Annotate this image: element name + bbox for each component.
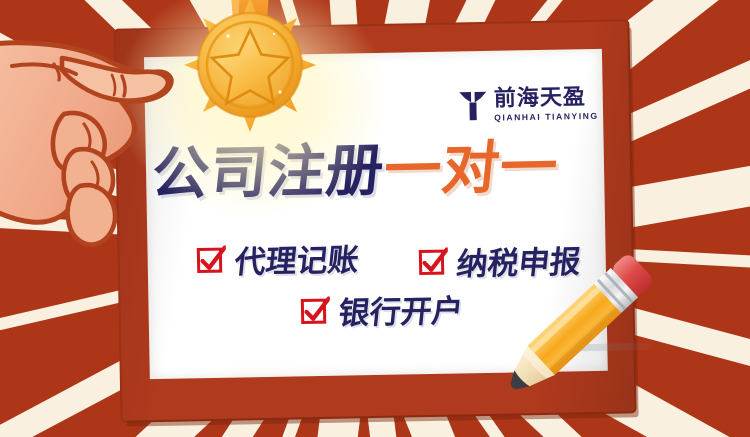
- list-item-label: 银行开户: [337, 285, 466, 332]
- list-item-label: 代理记账: [233, 234, 362, 281]
- banner-content: 前海天盈 QIANHAI TIANYING 公司注册一对一 代理记账: [0, 0, 750, 437]
- list-item: 代理记账: [196, 234, 360, 282]
- red-checkbox-check-icon: [300, 295, 331, 326]
- yellow-pencil-icon: [488, 222, 698, 402]
- gold-star-medal-icon: [168, 0, 333, 161]
- red-checkbox-check-icon: [196, 244, 227, 275]
- red-checkbox-check-icon: [418, 246, 449, 277]
- list-item: 银行开户: [300, 285, 464, 333]
- cartoon-hand-holding-board-icon: [0, 18, 192, 263]
- promo-banner: 前海天盈 QIANHAI TIANYING 公司注册一对一 代理记账: [0, 0, 750, 437]
